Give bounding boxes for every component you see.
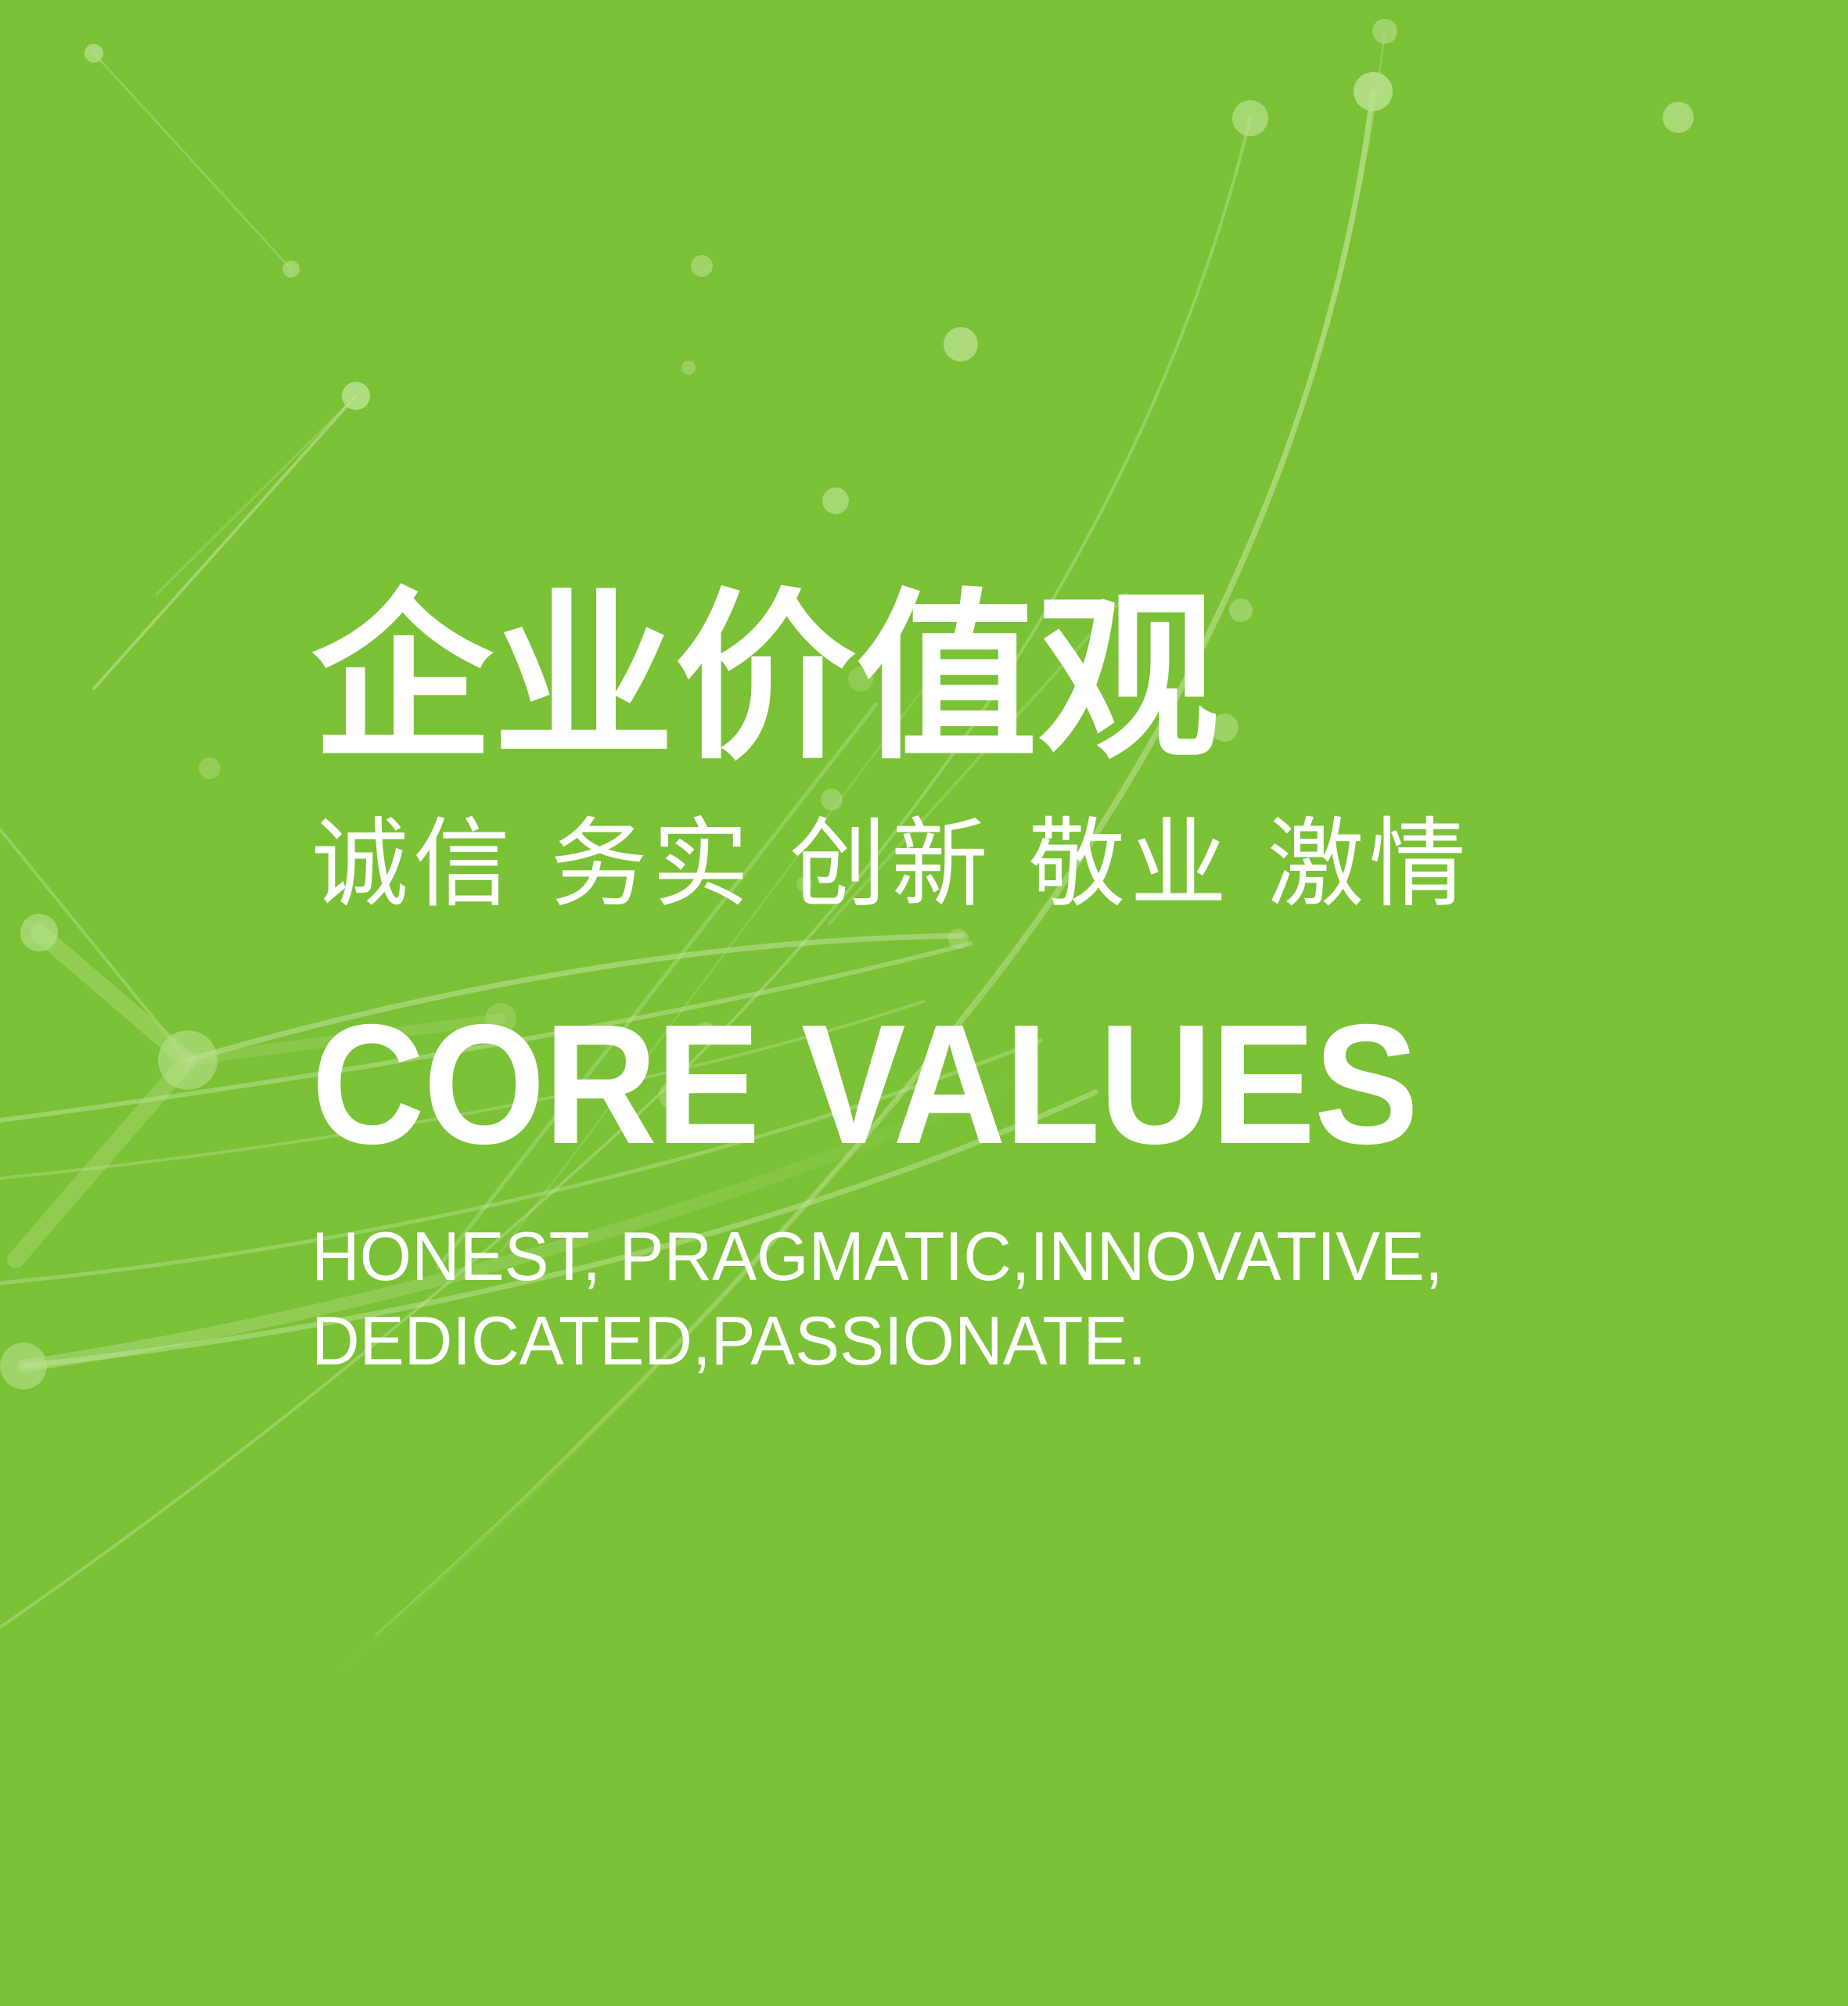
- page-body-english: HONEST, PRAGMATIC,INNOVATIVE, DEDICATED,…: [311, 1214, 1526, 1383]
- core-values-banner: 企业价值观 诚信 务实 创新 敬业 激情 CORE VALUES HONEST,…: [0, 0, 1848, 2006]
- page-title-chinese: 企业价值观: [311, 581, 1688, 776]
- page-subtitle-chinese: 诚信 务实 创新 敬业 激情: [311, 806, 1688, 923]
- body-english-line-2: DEDICATED,PASSIONATE.: [311, 1299, 1526, 1383]
- banner-content: 企业价值观 诚信 务实 创新 敬业 激情 CORE VALUES HONEST,…: [311, 581, 1688, 1383]
- body-english-line-1: HONEST, PRAGMATIC,INNOVATIVE,: [311, 1214, 1526, 1299]
- page-title-english: CORE VALUES: [311, 1000, 1578, 1170]
